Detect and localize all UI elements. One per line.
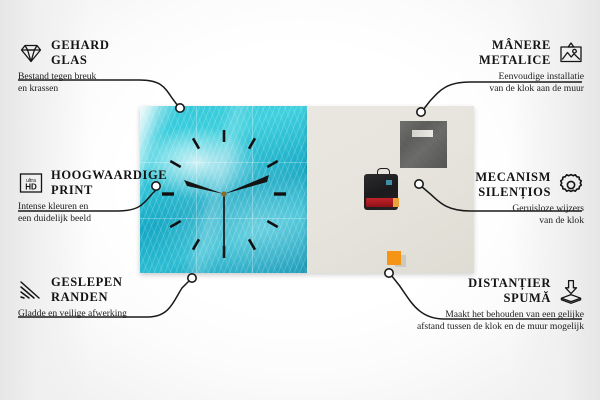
feature-hoogwaardige-print: ultra HD HOOGWAARDIGE PRINT Intense kleu… — [18, 168, 208, 224]
gear-icon — [558, 172, 584, 198]
feature-header: MÂNERE METALICE — [369, 38, 584, 67]
feature-title: MÂNERE METALICE — [479, 38, 551, 67]
feature-geslepen-randen: GESLEPEN RANDEN Gladde en veilige afwerk… — [18, 275, 208, 320]
infographic-canvas: GEHARD GLAS Bestand tegen breuk en krass… — [0, 0, 600, 400]
beveled-edges-icon — [18, 277, 44, 303]
feature-description: Geruisloze wijzers van de klok — [384, 203, 584, 226]
feature-title: GESLEPEN RANDEN — [51, 275, 123, 304]
feature-mecanism-silentios: MECANISM SILENȚIOS Geruisloze wijzers va… — [384, 170, 584, 226]
feature-manere-metalice: MÂNERE METALICE Eenvoudige installatie v… — [369, 38, 584, 94]
feature-header: MECANISM SILENȚIOS — [384, 170, 584, 199]
feature-header: ultra HD HOOGWAARDIGE PRINT — [18, 168, 208, 197]
feature-description: Gladde en veilige afwerking — [18, 308, 208, 320]
feature-header: GEHARD GLAS — [18, 38, 198, 67]
metal-hanger-plate — [400, 121, 447, 168]
feature-description: Maakt het behouden van een gelijke afsta… — [344, 309, 584, 332]
foam-spacer — [387, 251, 401, 265]
feature-title: MECANISM SILENȚIOS — [475, 170, 551, 199]
foam-spacer-icon — [558, 278, 584, 304]
feature-description: Intense kleuren en een duidelijk beeld — [18, 201, 208, 224]
feature-title: GEHARD GLAS — [51, 38, 109, 67]
diamond-icon — [18, 40, 44, 66]
feature-header: GESLEPEN RANDEN — [18, 275, 208, 304]
feature-gehard-glas: GEHARD GLAS Bestand tegen breuk en krass… — [18, 38, 198, 94]
ultra-hd-icon: ultra HD — [18, 170, 44, 196]
svg-text:HD: HD — [25, 182, 37, 191]
feature-title: HOOGWAARDIGE PRINT — [51, 168, 167, 197]
feature-description: Eenvoudige installatie van de klok aan d… — [369, 71, 584, 94]
feature-header: DISTANȚIER SPUMĂ — [344, 276, 584, 305]
framed-picture-icon — [558, 40, 584, 66]
feature-description: Bestand tegen breuk en krassen — [18, 71, 198, 94]
feature-distantier-spuma: DISTANȚIER SPUMĂ Maakt het behouden van … — [344, 276, 584, 332]
feature-title: DISTANȚIER SPUMĂ — [468, 276, 551, 305]
